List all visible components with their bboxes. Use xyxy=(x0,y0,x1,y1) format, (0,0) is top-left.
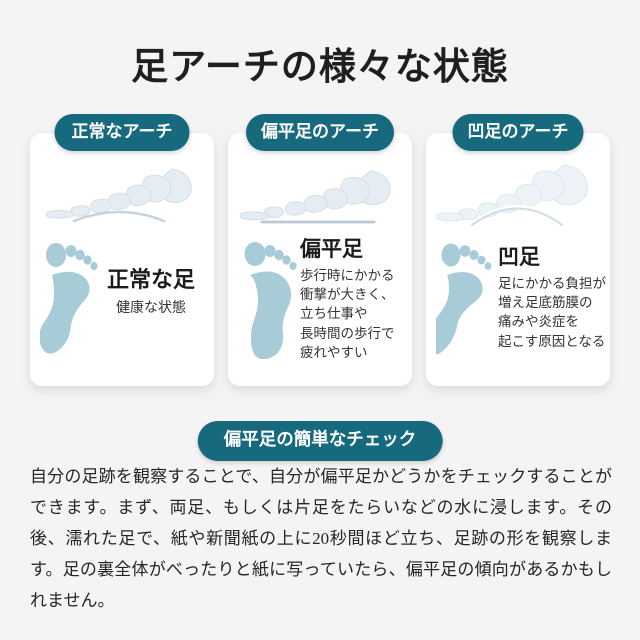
card-name-high: 凹足 xyxy=(498,245,606,269)
card-text-high: 凹足 足にかかる負担が 増え足底筋膜の 痛みや炎症を 起こす原因となる xyxy=(498,245,606,351)
arch-card-row: 正常なアーチ xyxy=(30,133,610,386)
badge-flat-arch: 偏平足のアーチ xyxy=(246,114,394,151)
card-high-arch: 凹足のアーチ xyxy=(426,133,610,386)
card-desc-normal: 健康な状態 xyxy=(92,299,210,319)
card-flat-arch: 偏平足のアーチ xyxy=(228,133,412,386)
flat-arch-skeleton-icon xyxy=(232,159,408,231)
card-desc-high: 足にかかる負担が 増え足底筋膜の 痛みや炎症を 起こす原因となる xyxy=(498,274,606,351)
card-body-normal: 正常な足 健康な状態 xyxy=(30,231,214,386)
flat-footprint-icon xyxy=(238,239,304,359)
check-section-paragraph: 自分の足跡を観察することで、自分が偏平足かどうかをチェックすることができます。ま… xyxy=(30,462,612,617)
check-section-badge: 偏平足の簡単なチェック xyxy=(198,421,443,461)
normal-arch-skeleton-icon xyxy=(34,159,210,231)
high-arch-footprint-icon xyxy=(436,239,502,359)
paragraph-text: 自分の足跡を観察することで、自分が偏平足かどうかをチェックすることができます。ま… xyxy=(30,462,612,617)
card-text-flat: 偏平足 歩行時にかかる 衝撃が大きく、 立ち仕事や 長時間の歩行で 疲れやすい xyxy=(300,237,408,362)
card-text-normal: 正常な足 健康な状態 xyxy=(92,267,210,319)
badge-normal-arch: 正常なアーチ xyxy=(55,114,190,151)
page-title: 足アーチの様々な状態 xyxy=(0,36,640,90)
card-body-flat: 偏平足 歩行時にかかる 衝撃が大きく、 立ち仕事や 長時間の歩行で 疲れやすい xyxy=(228,231,412,386)
badge-high-arch: 凹足のアーチ xyxy=(453,114,584,151)
card-desc-flat: 歩行時にかかる 衝撃が大きく、 立ち仕事や 長時間の歩行で 疲れやすい xyxy=(300,266,408,362)
card-body-high: 凹足 足にかかる負担が 増え足底筋膜の 痛みや炎症を 起こす原因となる xyxy=(426,231,610,386)
card-normal-arch: 正常なアーチ xyxy=(30,133,214,386)
card-name-normal: 正常な足 xyxy=(92,267,210,292)
high-arch-skeleton-icon xyxy=(430,159,606,231)
card-name-flat: 偏平足 xyxy=(300,237,408,261)
